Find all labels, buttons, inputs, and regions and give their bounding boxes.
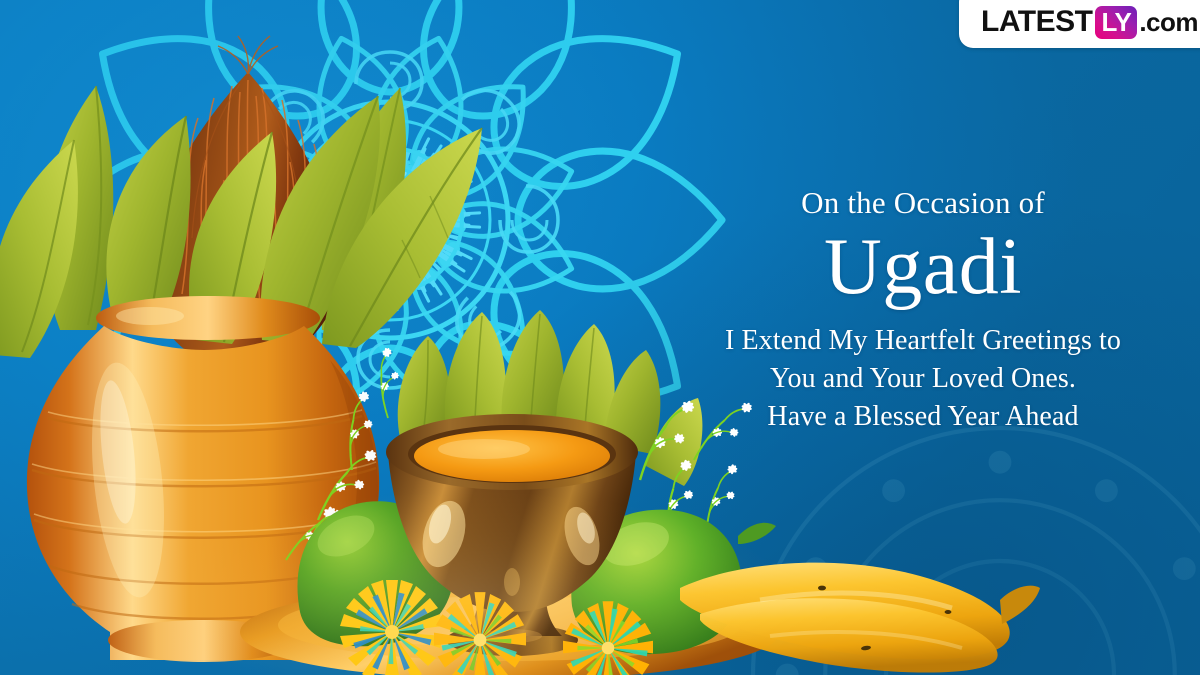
festival-title: Ugadi — [668, 224, 1178, 310]
logo-text-latest: LATEST — [981, 7, 1092, 37]
logo-badge-ly: LY — [1095, 6, 1137, 39]
logo-text-domain: .com — [1139, 9, 1198, 35]
greeting-message-line-3: Have a Blessed Year Ahead — [668, 398, 1178, 436]
greeting-message-line-1: I Extend My Heartfelt Greetings to — [668, 322, 1178, 360]
greeting-card-canvas: On the Occasion of Ugadi I Extend My Hea… — [0, 0, 1200, 675]
greeting-message: I Extend My Heartfelt Greetings to You a… — [668, 322, 1178, 436]
greeting-message-line-2: You and Your Loved Ones. — [668, 360, 1178, 398]
logo-wordmark: LATEST LY .com — [981, 6, 1198, 39]
greeting-text-block: On the Occasion of Ugadi I Extend My Hea… — [668, 186, 1178, 436]
occasion-prefix: On the Occasion of — [668, 186, 1178, 220]
latestly-logo[interactable]: LATEST LY .com — [959, 0, 1200, 48]
